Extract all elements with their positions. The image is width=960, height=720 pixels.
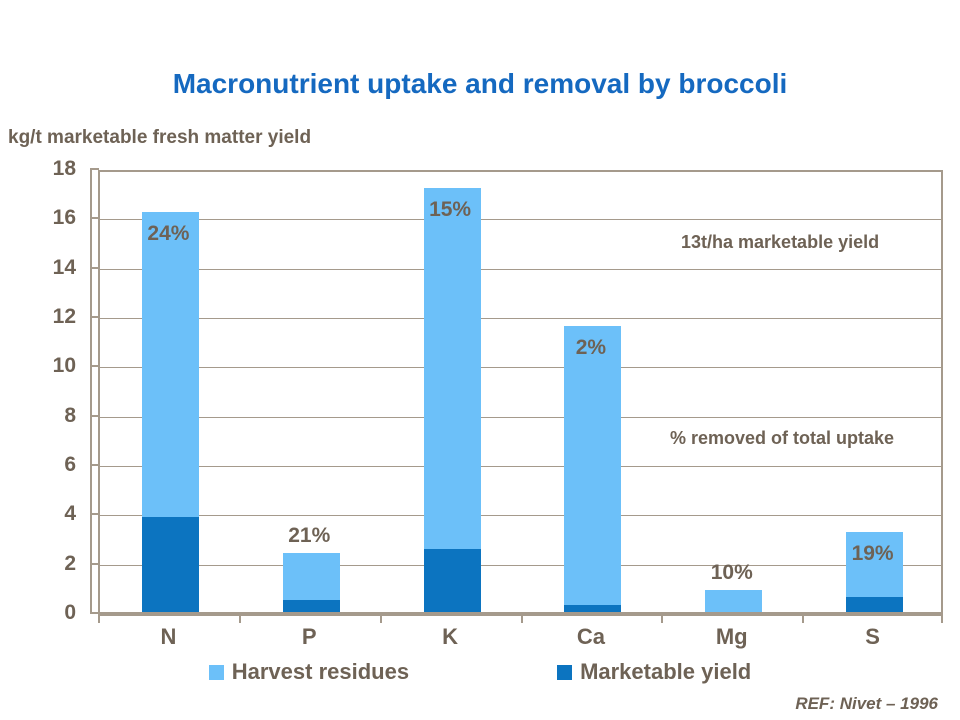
bar-segment-marketable-yield[interactable] (846, 597, 903, 612)
bar-N[interactable] (142, 212, 199, 612)
x-tick-label-S: S (813, 624, 933, 650)
data-label-K: 15% (390, 198, 510, 222)
y-tick-mark (90, 316, 99, 318)
y-tick-mark (90, 217, 99, 219)
y-tick-mark (90, 168, 99, 170)
bar-segment-marketable-yield[interactable] (424, 549, 481, 612)
bar-K[interactable] (424, 188, 481, 612)
y-axis-caption: kg/t marketable fresh matter yield (8, 127, 311, 149)
y-tick-mark (90, 415, 99, 417)
y-tick-mark (90, 365, 99, 367)
bar-segment-marketable-yield[interactable] (142, 517, 199, 612)
y-tick-mark (90, 513, 99, 515)
data-label-Mg: 10% (672, 561, 792, 585)
bar-segment-harvest-residues[interactable] (142, 212, 199, 517)
bar-Ca[interactable] (564, 326, 621, 612)
annotation-percent-removed: % removed of total uptake (670, 428, 894, 449)
gridline (100, 269, 941, 270)
chart-title: Macronutrient uptake and removal by broc… (0, 68, 960, 100)
y-tick-label: 12 (16, 305, 76, 329)
x-tick-mark (98, 613, 100, 623)
chart-legend: Harvest residuesMarketable yield (0, 659, 960, 685)
y-tick-mark (90, 464, 99, 466)
bar-segment-harvest-residues[interactable] (283, 553, 340, 600)
y-axis-line (90, 170, 92, 614)
data-label-S: 19% (813, 542, 933, 566)
gridline (100, 417, 941, 418)
legend-label: Harvest residues (232, 659, 409, 685)
gridline (100, 515, 941, 516)
x-tick-mark (802, 613, 804, 623)
data-label-Ca: 2% (531, 336, 651, 360)
legend-swatch-icon (557, 665, 572, 680)
x-tick-label-K: K (390, 624, 510, 650)
y-tick-label: 14 (16, 256, 76, 280)
gridline (100, 219, 941, 220)
gridline (100, 318, 941, 319)
y-tick-label: 6 (16, 453, 76, 477)
bar-segment-harvest-residues[interactable] (424, 188, 481, 549)
legend-swatch-icon (209, 665, 224, 680)
x-tick-mark (661, 613, 663, 623)
bar-segment-marketable-yield[interactable] (283, 600, 340, 612)
y-tick-label: 10 (16, 354, 76, 378)
bar-P[interactable] (283, 553, 340, 612)
chart-container: Macronutrient uptake and removal by broc… (0, 0, 960, 720)
y-tick-label: 8 (16, 404, 76, 428)
y-tick-mark (90, 267, 99, 269)
data-label-N: 24% (108, 222, 228, 246)
y-tick-label: 16 (16, 206, 76, 230)
legend-item-harvest-residues[interactable]: Harvest residues (209, 659, 409, 685)
bar-Mg[interactable] (705, 590, 762, 612)
data-label-P: 21% (249, 524, 369, 548)
gridline (100, 466, 941, 467)
annotation-marketable-yield: 13t/ha marketable yield (681, 232, 879, 253)
x-tick-mark (239, 613, 241, 623)
y-tick-label: 0 (16, 601, 76, 625)
y-tick-mark (90, 563, 99, 565)
legend-item-marketable-yield[interactable]: Marketable yield (557, 659, 751, 685)
y-tick-label: 2 (16, 552, 76, 576)
y-tick-label: 18 (16, 157, 76, 181)
bar-segment-marketable-yield[interactable] (564, 605, 621, 612)
x-tick-label-P: P (249, 624, 369, 650)
y-tick-label: 4 (16, 502, 76, 526)
bar-segment-harvest-residues[interactable] (705, 590, 762, 612)
x-tick-label-Ca: Ca (531, 624, 651, 650)
legend-label: Marketable yield (580, 659, 751, 685)
x-tick-label-N: N (108, 624, 228, 650)
x-tick-label-Mg: Mg (672, 624, 792, 650)
x-tick-mark (941, 613, 943, 623)
bar-segment-harvest-residues[interactable] (564, 326, 621, 605)
x-tick-mark (521, 613, 523, 623)
gridline (100, 367, 941, 368)
source-reference: REF: Nivet – 1996 (795, 694, 938, 714)
x-tick-mark (380, 613, 382, 623)
